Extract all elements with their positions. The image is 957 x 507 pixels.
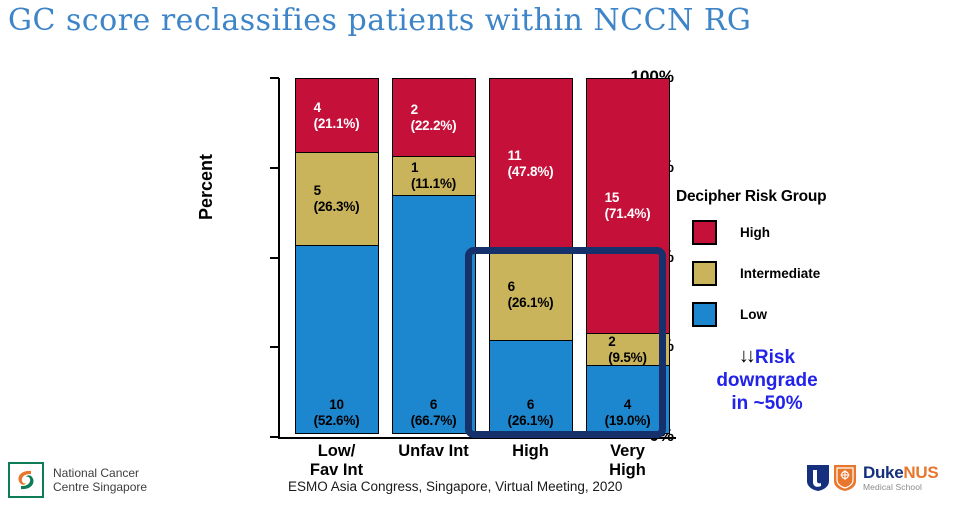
bar-segment-low: 4(19.0%) bbox=[586, 365, 670, 433]
bar-segment-high: 15(71.4%) bbox=[586, 78, 670, 334]
segment-count: 2 bbox=[608, 334, 647, 350]
segment-percent: (19.0%) bbox=[587, 413, 669, 429]
bar-segment-intermediate: 1(11.1%) bbox=[392, 156, 476, 196]
annotation-line-3: in ~50% bbox=[672, 392, 862, 415]
nccs-line-1: National Cancer bbox=[53, 466, 147, 480]
y-tick-mark bbox=[270, 346, 279, 348]
segment-label: 1(11.1%) bbox=[411, 160, 456, 192]
segment-count: 15 bbox=[605, 190, 651, 206]
risk-downgrade-annotation: ↓↓ Risk downgrade in ~50% bbox=[672, 346, 862, 415]
legend-title: Decipher Risk Group bbox=[676, 188, 906, 206]
y-tick-mark bbox=[270, 77, 279, 79]
nccs-logo-text: National Cancer Centre Singapore bbox=[53, 466, 147, 494]
duke-shield-icon bbox=[806, 464, 830, 492]
segment-label: 4(19.0%) bbox=[587, 397, 669, 429]
legend-items: HighIntermediateLow bbox=[676, 220, 906, 327]
x-axis-label-line: Low/ bbox=[288, 442, 385, 461]
legend-color-swatch bbox=[692, 261, 717, 286]
segment-label: 10(52.6%) bbox=[296, 397, 378, 429]
x-axis-label-line: Very bbox=[579, 442, 676, 461]
x-axis-label: Unfav Int bbox=[385, 442, 482, 461]
legend-item-high[interactable]: High bbox=[676, 220, 906, 245]
segment-label: 15(71.4%) bbox=[605, 190, 651, 222]
x-axis-line bbox=[278, 437, 676, 439]
segment-percent: (47.8%) bbox=[508, 164, 554, 180]
segment-label: 5(26.3%) bbox=[314, 183, 360, 215]
bar-segment-intermediate: 6(26.1%) bbox=[489, 248, 573, 342]
x-axis-label: VeryHigh bbox=[579, 442, 676, 480]
x-axis-label-line: High bbox=[482, 442, 579, 461]
segment-count: 4 bbox=[587, 397, 669, 413]
segment-label: 11(47.8%) bbox=[508, 148, 554, 180]
segment-label: 6(66.7%) bbox=[393, 397, 475, 429]
dukenus-logo: DukeNUS Medical School bbox=[806, 464, 938, 492]
x-axis-label-line: Fav Int bbox=[288, 461, 385, 480]
bar-segment-high: 2(22.2%) bbox=[392, 78, 476, 158]
bar-segment-intermediate: 5(26.3%) bbox=[295, 152, 379, 246]
page-title: GC score reclassifies patients within NC… bbox=[8, 2, 938, 40]
segment-percent: (26.1%) bbox=[490, 413, 572, 429]
bar-column: 2(22.2%)1(11.1%)6(66.7%) bbox=[392, 78, 476, 437]
segment-count: 5 bbox=[314, 183, 360, 199]
x-axis-label-line: High bbox=[579, 461, 676, 480]
dukenus-wordmark: DukeNUS Medical School bbox=[863, 464, 938, 492]
legend-item-label: Intermediate bbox=[740, 266, 820, 281]
segment-label: 2(22.2%) bbox=[411, 102, 457, 134]
y-tick-mark bbox=[270, 257, 279, 259]
nccs-line-2: Centre Singapore bbox=[53, 480, 147, 494]
legend-color-swatch bbox=[692, 302, 717, 327]
segment-count: 1 bbox=[411, 160, 456, 176]
slide-canvas: GC score reclassifies patients within NC… bbox=[0, 0, 957, 507]
bar-column: 15(71.4%)2(9.5%)4(19.0%) bbox=[586, 78, 670, 437]
segment-count: 6 bbox=[393, 397, 475, 413]
segment-label: 4(21.1%) bbox=[314, 100, 360, 132]
dukenus-subtitle: Medical School bbox=[863, 483, 938, 492]
nus-shield-icon bbox=[833, 464, 857, 492]
x-axis-label: High bbox=[482, 442, 579, 461]
legend: Decipher Risk Group HighIntermediateLow bbox=[676, 188, 906, 343]
segment-label: 2(9.5%) bbox=[608, 334, 647, 366]
segment-percent: (52.6%) bbox=[296, 413, 378, 429]
segment-percent: (26.1%) bbox=[508, 295, 554, 311]
segment-label: 6(26.1%) bbox=[490, 397, 572, 429]
segment-percent: (22.2%) bbox=[411, 118, 457, 134]
segment-percent: (11.1%) bbox=[411, 176, 456, 192]
bar-columns: 4(21.1%)5(26.3%)10(52.6%)2(22.2%)1(11.1%… bbox=[288, 78, 676, 437]
legend-color-swatch bbox=[692, 220, 717, 245]
legend-item-intermediate[interactable]: Intermediate bbox=[676, 261, 906, 286]
bar-segment-low: 6(26.1%) bbox=[489, 340, 573, 434]
legend-item-label: Low bbox=[740, 307, 767, 322]
nus-word: NUS bbox=[903, 463, 938, 482]
annotation-line-2: downgrade bbox=[672, 369, 862, 392]
down-arrow-icon: ↓↓ bbox=[739, 345, 753, 368]
bar-segment-low: 6(66.7%) bbox=[392, 195, 476, 434]
annotation-line-1: Risk bbox=[755, 346, 795, 369]
segment-percent: (21.1%) bbox=[314, 116, 360, 132]
y-axis-label: Percent bbox=[196, 154, 217, 220]
segment-label: 6(26.1%) bbox=[508, 279, 554, 311]
legend-item-low[interactable]: Low bbox=[676, 302, 906, 327]
segment-count: 10 bbox=[296, 397, 378, 413]
x-axis-label: Low/Fav Int bbox=[288, 442, 385, 480]
bar-segment-intermediate: 2(9.5%) bbox=[586, 333, 670, 367]
nccs-logo: National Cancer Centre Singapore bbox=[8, 462, 147, 498]
citation-text: ESMO Asia Congress, Singapore, Virtual M… bbox=[288, 479, 622, 494]
bar-segment-high: 11(47.8%) bbox=[489, 78, 573, 250]
segment-count: 4 bbox=[314, 100, 360, 116]
nccs-logo-mark bbox=[8, 462, 44, 498]
y-tick-mark bbox=[270, 436, 279, 438]
segment-percent: (66.7%) bbox=[393, 413, 475, 429]
segment-percent: (9.5%) bbox=[608, 350, 647, 366]
bar-column: 11(47.8%)6(26.1%)6(26.1%) bbox=[489, 78, 573, 437]
segment-count: 6 bbox=[490, 397, 572, 413]
segment-count: 11 bbox=[508, 148, 554, 164]
duke-word: Duke bbox=[863, 463, 903, 482]
segment-percent: (71.4%) bbox=[605, 206, 651, 222]
segment-count: 6 bbox=[508, 279, 554, 295]
stacked-bar-chart: Percent 0%25%50%75%100% 4(21.1%)5(26.3%)… bbox=[214, 70, 674, 445]
x-axis-label-line: Unfav Int bbox=[385, 442, 482, 461]
segment-percent: (26.3%) bbox=[314, 199, 360, 215]
segment-count: 2 bbox=[411, 102, 457, 118]
bar-column: 4(21.1%)5(26.3%)10(52.6%) bbox=[295, 78, 379, 437]
bar-segment-high: 4(21.1%) bbox=[295, 78, 379, 154]
y-tick-mark bbox=[270, 167, 279, 169]
bar-segment-low: 10(52.6%) bbox=[295, 245, 379, 434]
legend-item-label: High bbox=[740, 225, 770, 240]
